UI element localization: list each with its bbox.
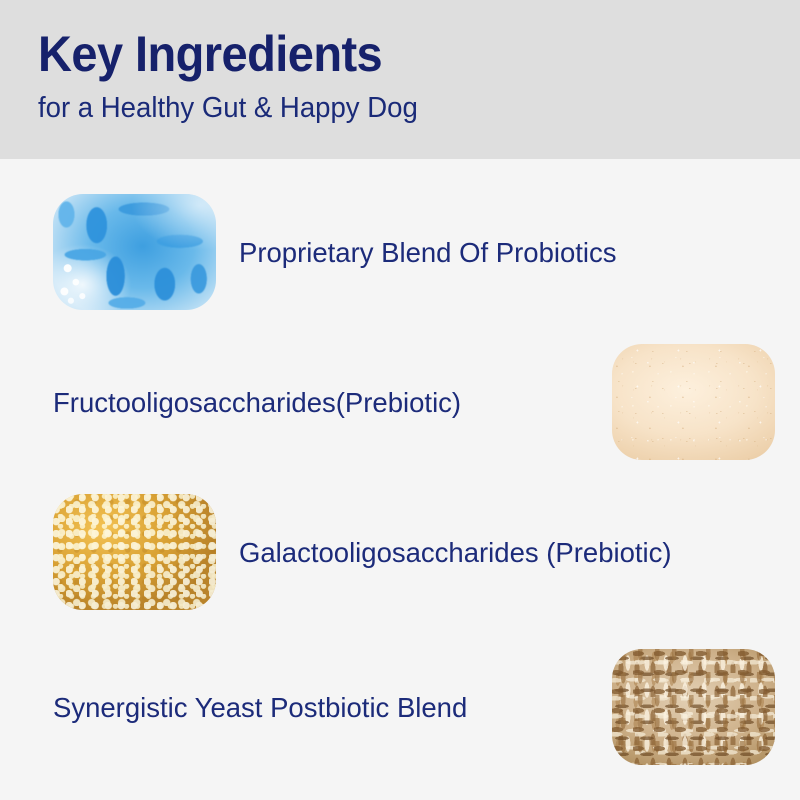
ingredient-label-galactooligosaccharides: Galactooligosaccharides (Prebiotic) bbox=[239, 536, 672, 569]
ingredient-row-probiotics: Proprietary Blend Of Probiotics bbox=[0, 177, 800, 327]
header-band: Key Ingredients for a Healthy Gut & Happ… bbox=[0, 0, 800, 159]
page-subtitle: for a Healthy Gut & Happy Dog bbox=[38, 93, 418, 125]
yeast-flakes-image bbox=[612, 649, 775, 765]
cream-powder-image bbox=[612, 344, 775, 460]
ingredient-row-galactooligosaccharides: Galactooligosaccharides (Prebiotic) bbox=[0, 477, 800, 627]
ingredients-list: Proprietary Blend Of Probiotics Fructool… bbox=[0, 159, 800, 800]
golden-bubbles-image bbox=[53, 494, 216, 610]
ingredient-row-yeast-postbiotic: Synergistic Yeast Postbiotic Blend bbox=[0, 632, 800, 782]
ingredient-row-fructooligosaccharides: Fructooligosaccharides(Prebiotic) bbox=[0, 327, 800, 477]
probiotic-bacteria-image bbox=[53, 194, 216, 310]
ingredient-label-probiotics: Proprietary Blend Of Probiotics bbox=[239, 236, 617, 269]
page-title: Key Ingredients bbox=[38, 28, 382, 80]
ingredient-label-fructooligosaccharides: Fructooligosaccharides(Prebiotic) bbox=[53, 386, 461, 419]
ingredient-label-yeast-postbiotic: Synergistic Yeast Postbiotic Blend bbox=[53, 691, 467, 724]
